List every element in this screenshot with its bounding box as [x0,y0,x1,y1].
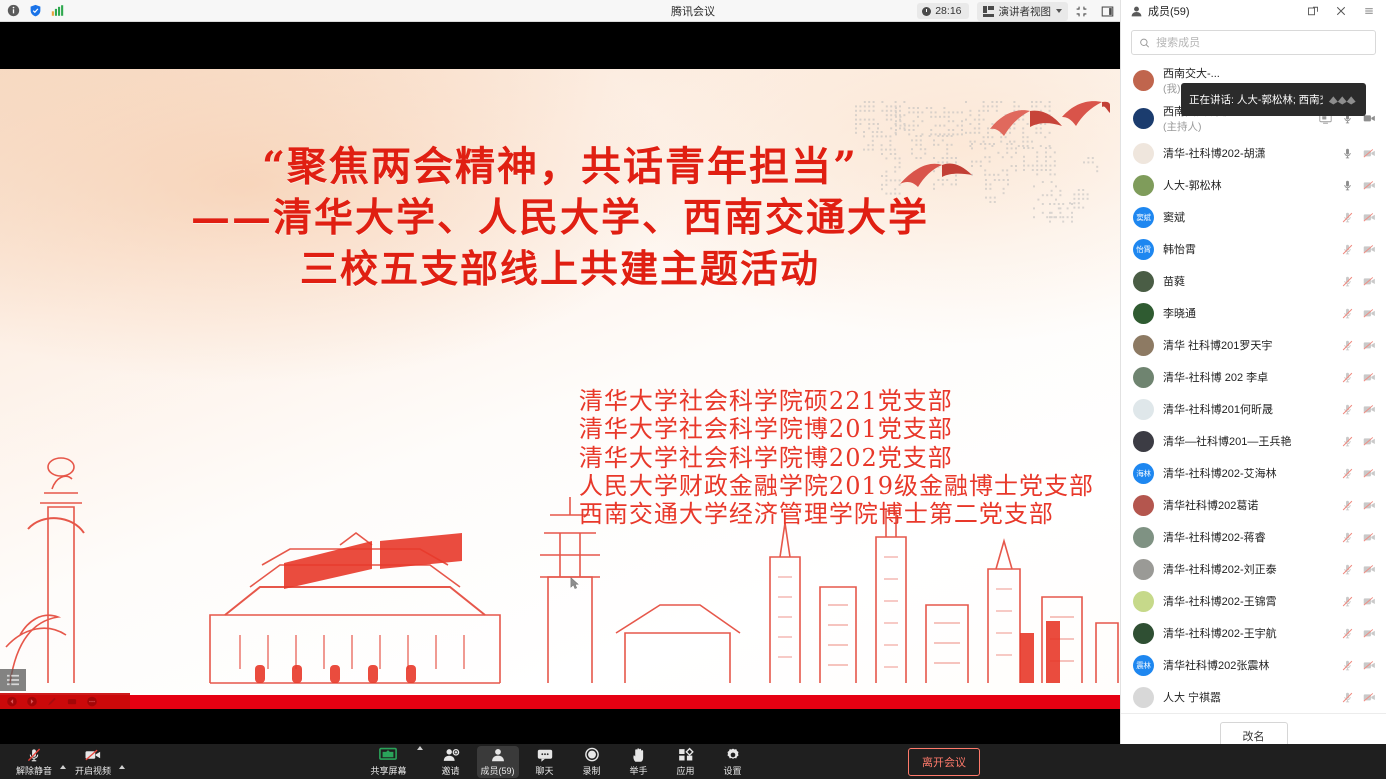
avatar [1133,70,1154,91]
avatar [1133,175,1154,196]
participant-row[interactable]: 清华-社科博202-王宇航 [1121,617,1386,649]
participant-name: 清华社科博202张震林 [1163,657,1332,673]
more-icon[interactable] [86,696,98,707]
avatar [1133,495,1154,516]
cityscape-graphic [0,437,1120,697]
toolbar-item-label: 邀请 [441,764,459,777]
record-icon [583,747,601,763]
search-area [1121,22,1386,61]
avatar [1133,399,1154,420]
participant-actions [1341,339,1376,352]
mic-muted-icon [25,747,43,763]
participant-row[interactable]: 人大 宁祺嚣 [1121,681,1386,713]
shield-icon[interactable] [29,4,42,17]
slide-title-line-1: “聚焦两会精神，共话青年担当” [0,141,1120,193]
shared-content-stage: “聚焦两会精神，共话青年担当” ——清华大学、人民大学、西南交通大学 三校五支部… [0,22,1120,744]
popout-icon [1307,5,1319,17]
hamburger-icon [1363,5,1375,17]
slide-bottom-band [0,695,1120,709]
camera-off-icon [84,747,102,763]
avatar [1133,143,1154,164]
mic-muted-icon[interactable] [1341,211,1354,224]
branch-item: 清华大学社会科学院硕221党支部 [579,387,1094,415]
mute-button-label: 解除静音 [16,764,52,777]
avatar [1133,527,1154,548]
mouse-cursor [570,577,579,590]
sidebar-layout-icon [1101,5,1114,18]
camera-off-icon[interactable] [1363,147,1376,160]
participant-row[interactable]: 清华-社科博202-刘正泰 [1121,553,1386,585]
mic-on-icon[interactable] [1341,179,1354,192]
participant-name: 清华—社科博201—王兵艳 [1163,433,1332,449]
participant-actions [1341,563,1376,576]
exit-fullscreen-button[interactable] [1068,0,1094,22]
participant-name: 清华-社科博202-王宇航 [1163,625,1332,641]
mic-muted-icon[interactable] [1341,243,1354,256]
camera-off-icon[interactable] [1363,243,1376,256]
chat-icon [536,747,554,763]
participant-name: 苗蕤 [1163,273,1332,289]
participant-name: 清华社科博202葛诺 [1163,497,1332,513]
participant-name: 窦斌 [1163,209,1332,225]
camera-off-icon[interactable] [1363,179,1376,192]
participant-actions [1341,211,1376,224]
camera-off-icon[interactable] [1363,659,1376,672]
participant-name: 人大 宁祺嚣 [1163,689,1332,705]
participant-actions [1341,307,1376,320]
participant-actions [1341,275,1376,288]
speaking-tooltip-text: 正在讲话: 人大-郭松林; 西南交... [1189,92,1323,107]
clock-icon [922,7,931,16]
camera-off-icon[interactable] [1363,211,1376,224]
settings-icon [724,747,742,763]
title-bar-right: 28:16 演讲者视图 [917,0,1386,22]
participant-actions [1341,371,1376,384]
slide-title-block: “聚焦两会精神，共话青年担当” ——清华大学、人民大学、西南交通大学 三校五支部… [0,141,1120,293]
timer-value: 28:16 [935,5,961,17]
mute-button[interactable]: 解除静音 [12,746,56,778]
ppt-control-bar[interactable] [0,693,130,709]
participant-row[interactable]: 窦斌窦斌 [1121,201,1386,233]
toolbar-share-screen[interactable]: 共享屏幕 [366,746,410,778]
camera-off-icon[interactable] [1363,627,1376,640]
toolbar-item-label: 成员(59) [481,764,515,777]
participant-row[interactable]: 人大-郭松林 [1121,169,1386,201]
meeting-window: 腾讯会议 28:16 演讲者视图 [0,0,1386,779]
prev-slide-icon[interactable] [6,696,18,707]
avatar [1133,687,1154,708]
leave-area: 离开会议 [1120,744,1386,779]
title-bar: 腾讯会议 28:16 演讲者视图 [0,0,1386,22]
participant-name: 李晓通 [1163,305,1332,321]
participant-name: 韩怡霄 [1163,241,1332,257]
camera-off-icon[interactable] [1363,467,1376,480]
participant-row[interactable]: 苗蕤 [1121,265,1386,297]
participant-row[interactable]: 震林清华社科博202张震林 [1121,649,1386,681]
mic-muted-icon[interactable] [1341,563,1354,576]
participant-actions [1341,179,1376,192]
avatar [1133,623,1154,644]
participant-actions [1341,691,1376,704]
avatar: 震林 [1133,655,1154,676]
participant-name: 清华-社科博201何昕晟 [1163,401,1332,417]
participant-actions [1341,531,1376,544]
toolbar-item-label: 应用 [677,764,695,777]
avatar: 怡霄 [1133,239,1154,260]
participant-name: 清华 社科博201罗天宇 [1163,337,1332,353]
participant-name: 清华-社科博202-蒋睿 [1163,529,1332,545]
mic-muted-icon[interactable] [1341,339,1354,352]
participant-actions [1341,403,1376,416]
participant-name: 清华-社科博202-刘正泰 [1163,561,1332,577]
toolbar-item-label: 举手 [630,764,648,777]
mic-muted-icon[interactable] [1341,307,1354,320]
slide-thumbnails-button[interactable] [0,669,26,691]
video-button-label: 开启视频 [75,764,111,777]
slide-title-line-3: 三校五支部线上共建主题活动 [0,244,1120,293]
toolbar-settings[interactable]: 设置 [712,746,754,778]
leave-meeting-button[interactable]: 离开会议 [908,748,980,776]
camera-off-icon[interactable] [1363,563,1376,576]
panel-menu-button[interactable] [1356,0,1382,22]
title-bar-left-icons [0,4,64,17]
avatar [1133,591,1154,612]
participant-actions [1341,595,1376,608]
participants-panel-title: 成员(59) [1148,3,1190,19]
toolbar-members[interactable]: 成员(59) [477,746,519,778]
mic-muted-icon[interactable] [1341,371,1354,384]
avatar [1133,431,1154,452]
members-icon [489,747,507,763]
camera-off-icon[interactable] [1363,531,1376,544]
participant-actions [1341,467,1376,480]
screen-icon[interactable] [66,696,78,707]
pen-icon[interactable] [46,696,58,707]
avatar [1133,559,1154,580]
toolbar-invite[interactable]: 邀请 [430,746,472,778]
participant-name: 清华-社科博202-王锦霄 [1163,593,1332,609]
camera-off-icon[interactable] [1363,499,1376,512]
collapse-icon [1075,5,1088,18]
participant-name: 人大-郭松林 [1163,177,1332,193]
speaker-view-icon [983,6,994,17]
camera-off-icon[interactable] [1363,595,1376,608]
participant-row[interactable]: 海林清华-社科博202-艾海林 [1121,457,1386,489]
toolbar-item-label: 设置 [724,764,742,777]
participant-actions [1341,659,1376,672]
search-icon [1139,37,1150,49]
avatar: 窦斌 [1133,207,1154,228]
next-slide-icon[interactable] [26,696,38,707]
mic-on-icon[interactable] [1341,147,1354,160]
toolbar-chat[interactable]: 聊天 [524,746,566,778]
toolbar-apps[interactable]: 应用 [665,746,707,778]
view-mode-label: 演讲者视图 [999,4,1052,19]
video-options-caret-icon[interactable] [119,765,125,769]
mic-muted-icon[interactable] [1341,531,1354,544]
avatar [1133,303,1154,324]
avatar [1133,271,1154,292]
camera-off-icon[interactable] [1363,371,1376,384]
close-icon [1335,5,1347,17]
camera-off-icon[interactable] [1363,307,1376,320]
search-input[interactable] [1156,37,1368,49]
mic-muted-icon[interactable] [1341,595,1354,608]
toolbar-item-label: 共享屏幕 [370,764,406,777]
chevron-down-icon [1056,9,1062,13]
members-icon [1130,5,1143,18]
toolbar-left-group: 解除静音 开启视频 [0,746,127,778]
mic-muted-icon[interactable] [1341,691,1354,704]
participants-list[interactable]: 正在讲话: 人大-郭松林; 西南交... 西南交大-...(我)西南交大-席悦(… [1121,61,1386,713]
sound-wave-icon [1328,93,1358,107]
participant-name: 清华-社科博202-艾海林 [1163,465,1332,481]
toolbar-raise-hand[interactable]: 举手 [618,746,660,778]
mic-muted-icon[interactable] [1341,403,1354,416]
raise-hand-icon [630,747,648,763]
participant-row[interactable]: 清华社科博202葛诺 [1121,489,1386,521]
signal-icon[interactable] [51,4,64,17]
mic-muted-icon[interactable] [1341,499,1354,512]
info-icon[interactable] [7,4,20,17]
audio-options-caret-icon[interactable] [60,765,66,769]
avatar [1133,367,1154,388]
participant-actions [1341,435,1376,448]
participant-name: 清华-社科博 202 李卓 [1163,369,1332,385]
participant-row[interactable]: 清华-社科博202-胡潇 [1121,137,1386,169]
apps-icon [677,747,695,763]
participant-row[interactable]: 清华-社科博202-蒋睿 [1121,521,1386,553]
view-mode-selector[interactable]: 演讲者视图 [977,2,1069,21]
participant-actions [1341,499,1376,512]
participant-actions [1341,627,1376,640]
slide-title-line-2: ——清华大学、人民大学、西南交通大学 [0,193,1120,244]
participant-row[interactable]: 清华-社科博202-王锦霄 [1121,585,1386,617]
video-button[interactable]: 开启视频 [71,746,115,778]
participant-row[interactable]: 清华-社科博 202 李卓 [1121,361,1386,393]
participant-row[interactable]: 清华—社科博201—王兵艳 [1121,425,1386,457]
slide-list-icon [6,674,20,686]
participant-row[interactable]: 怡霄韩怡霄 [1121,233,1386,265]
panel-header-actions [1300,0,1382,22]
camera-off-icon[interactable] [1363,275,1376,288]
participant-actions [1341,243,1376,256]
meeting-timer[interactable]: 28:16 [917,3,968,19]
participants-panel: 正在讲话: 人大-郭松林; 西南交... 西南交大-...(我)西南交大-席悦(… [1120,22,1386,757]
toolbar-record[interactable]: 录制 [571,746,613,778]
mic-muted-icon[interactable] [1341,659,1354,672]
participants-panel-title-wrap: 成员(59) [1130,3,1300,19]
presentation-slide[interactable]: “聚焦两会精神，共话青年担当” ——清华大学、人民大学、西南交通大学 三校五支部… [0,69,1120,709]
popout-panel-button[interactable] [1300,0,1326,22]
participant-name: 清华-社科博202-胡潇 [1163,145,1332,161]
camera-off-icon[interactable] [1363,691,1376,704]
participant-row[interactable]: 清华-社科博201何昕晟 [1121,393,1386,425]
mic-muted-icon[interactable] [1341,435,1354,448]
participant-actions [1341,147,1376,160]
mic-muted-icon[interactable] [1341,467,1354,480]
avatar [1133,335,1154,356]
mic-muted-icon[interactable] [1341,627,1354,640]
participant-row[interactable]: 李晓通 [1121,297,1386,329]
participant-row[interactable]: 清华 社科博201罗天宇 [1121,329,1386,361]
camera-off-icon[interactable] [1363,403,1376,416]
camera-off-icon[interactable] [1363,435,1376,448]
mic-muted-icon[interactable] [1341,275,1354,288]
toolbar-item-label: 聊天 [536,764,554,777]
sidebar-layout-button[interactable] [1094,0,1120,22]
speaking-tooltip: 正在讲话: 人大-郭松林; 西南交... [1181,83,1366,116]
toolbar-item-label: 录制 [583,764,601,777]
avatar: 海林 [1133,463,1154,484]
participants-panel-header: 成员(59) [1120,0,1386,22]
share-options-caret-icon[interactable] [417,746,423,750]
avatar [1133,108,1154,129]
invite-icon [442,747,460,763]
camera-off-icon[interactable] [1363,339,1376,352]
close-panel-button[interactable] [1328,0,1354,22]
share-screen-icon [379,747,397,763]
search-box[interactable] [1131,30,1376,55]
